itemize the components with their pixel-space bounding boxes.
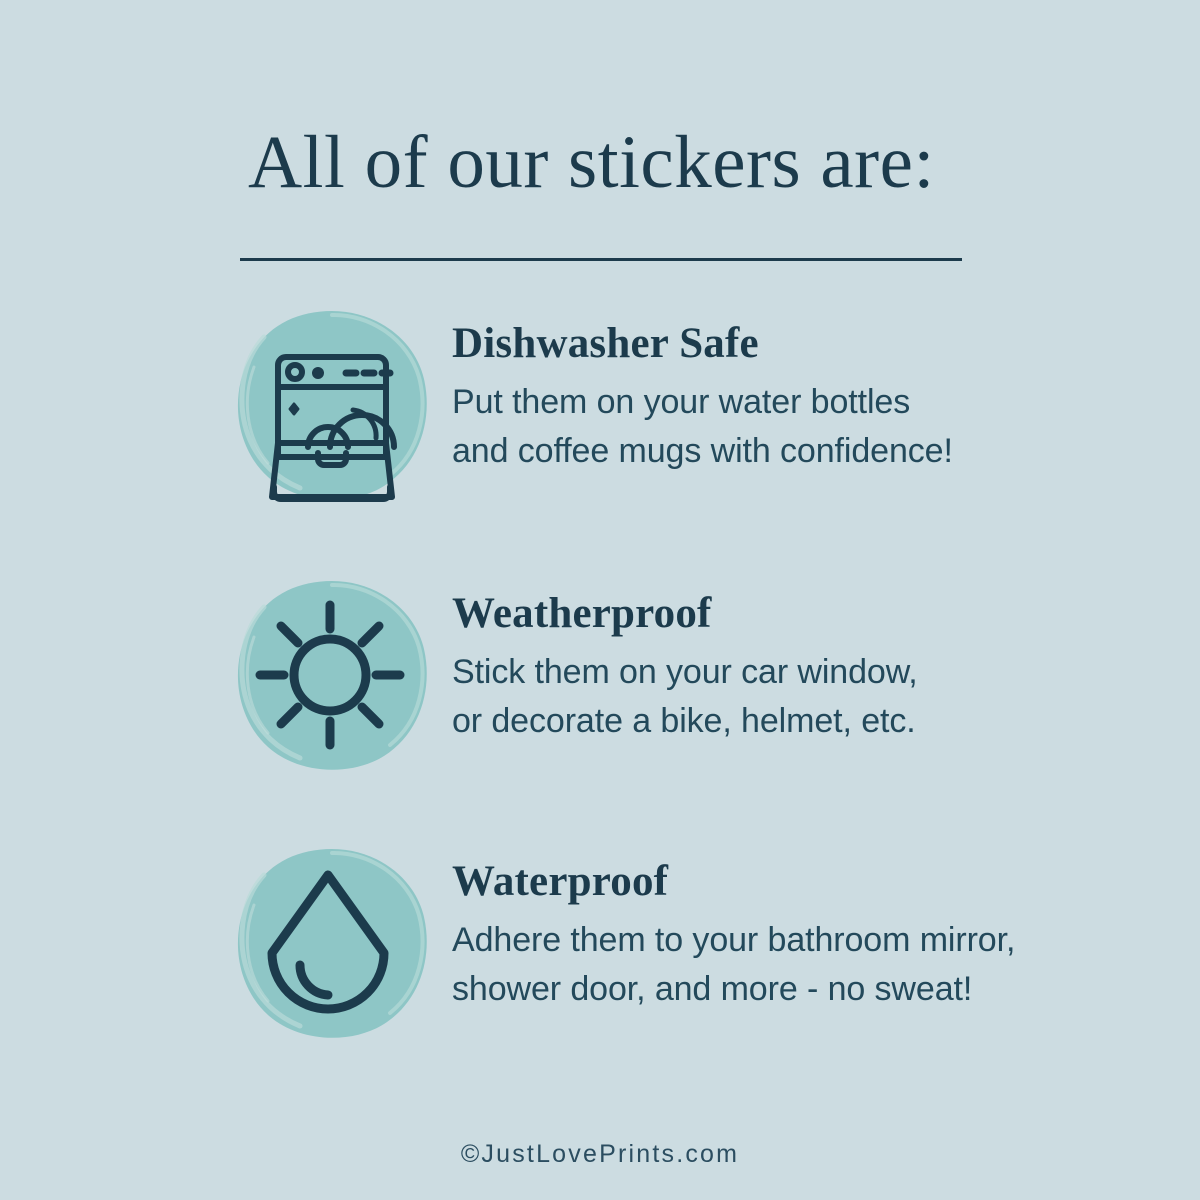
feature-description: Stick them on your car window, or decora… — [452, 635, 1152, 747]
sun-icon — [234, 577, 430, 773]
feature-description: Adhere them to your bathroom mirror, sho… — [452, 903, 1152, 1015]
water-drop-icon — [234, 845, 430, 1041]
title-divider — [240, 258, 962, 261]
feature-description-line: shower door, and more - no sweat! — [452, 965, 1152, 1014]
feature-title: Dishwasher Safe — [452, 307, 1152, 365]
feature-description: Put them on your water bottles and coffe… — [452, 365, 1152, 477]
poster: All of our stickers are: — [0, 0, 1200, 1200]
feature-row: Weatherproof Stick them on your car wind… — [0, 577, 1200, 777]
dishwasher-icon — [234, 307, 430, 503]
feature-row: Waterproof Adhere them to your bathroom … — [0, 845, 1200, 1045]
page-title: All of our stickers are: — [248, 124, 968, 203]
feature-copy: Weatherproof Stick them on your car wind… — [452, 577, 1152, 747]
feature-description-line: Put them on your water bottles — [452, 378, 1152, 427]
feature-title: Waterproof — [452, 845, 1152, 903]
feature-copy: Waterproof Adhere them to your bathroom … — [452, 845, 1152, 1015]
feature-copy: Dishwasher Safe Put them on your water b… — [452, 307, 1152, 477]
feature-description-line: and coffee mugs with confidence! — [452, 427, 1152, 476]
footer-credit: ©JustLovePrints.com — [0, 1140, 1200, 1169]
feature-description-line: or decorate a bike, helmet, etc. — [452, 697, 1152, 746]
feature-title: Weatherproof — [452, 577, 1152, 635]
feature-row: Dishwasher Safe Put them on your water b… — [0, 307, 1200, 507]
feature-description-line: Adhere them to your bathroom mirror, — [452, 916, 1152, 965]
feature-description-line: Stick them on your car window, — [452, 648, 1152, 697]
